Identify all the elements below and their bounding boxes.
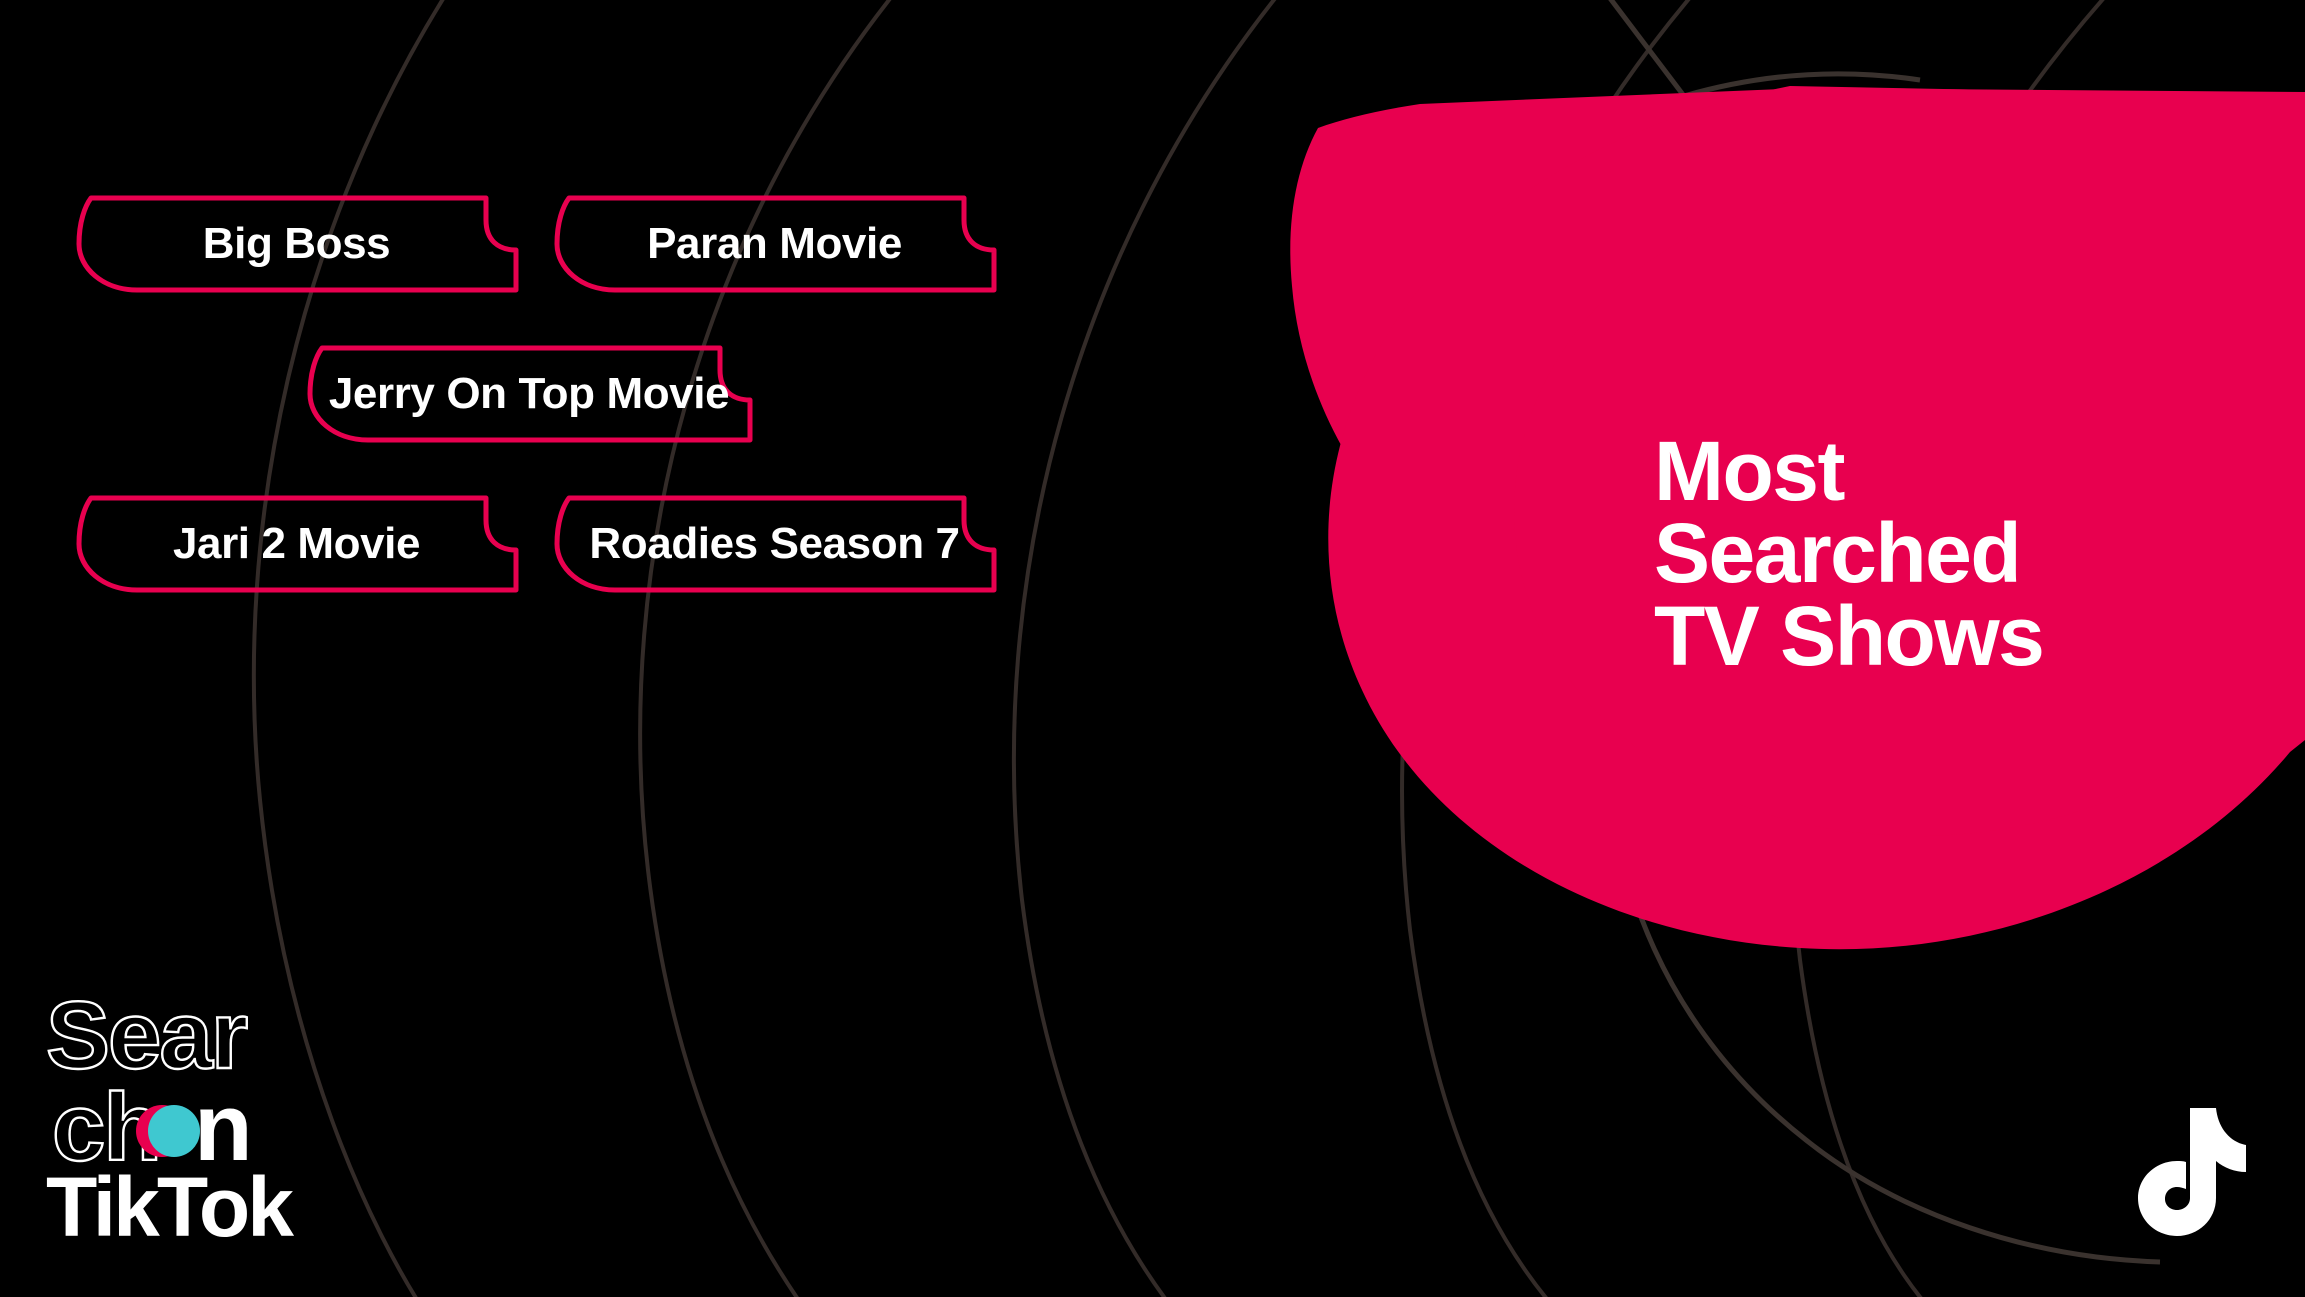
pill-label: Jari 2 Movie — [75, 492, 518, 596]
tiktok-note-icon — [2128, 1104, 2246, 1238]
search-pill[interactable]: Paran Movie — [553, 192, 996, 296]
pill-label: Jerry On Top Movie — [306, 342, 752, 446]
search-pill[interactable]: Big Boss — [75, 192, 518, 296]
search-on-tiktok-logo: Sear ch n TikTok — [44, 988, 324, 1248]
search-pill[interactable]: Roadies Season 7 — [553, 492, 996, 596]
pill-label: Roadies Season 7 — [553, 492, 996, 596]
poster-canvas: Most Searched TV Shows Big Boss Paran Mo… — [0, 0, 2305, 1297]
page-title: Most Searched TV Shows — [1654, 430, 2274, 677]
pill-label: Paran Movie — [553, 192, 996, 296]
search-pill[interactable]: Jari 2 Movie — [75, 492, 518, 596]
logo-o-teal-circle — [148, 1105, 200, 1157]
logo-line-3: TikTok — [46, 1160, 294, 1248]
search-pill[interactable]: Jerry On Top Movie — [306, 342, 752, 446]
pill-label: Big Boss — [75, 192, 518, 296]
